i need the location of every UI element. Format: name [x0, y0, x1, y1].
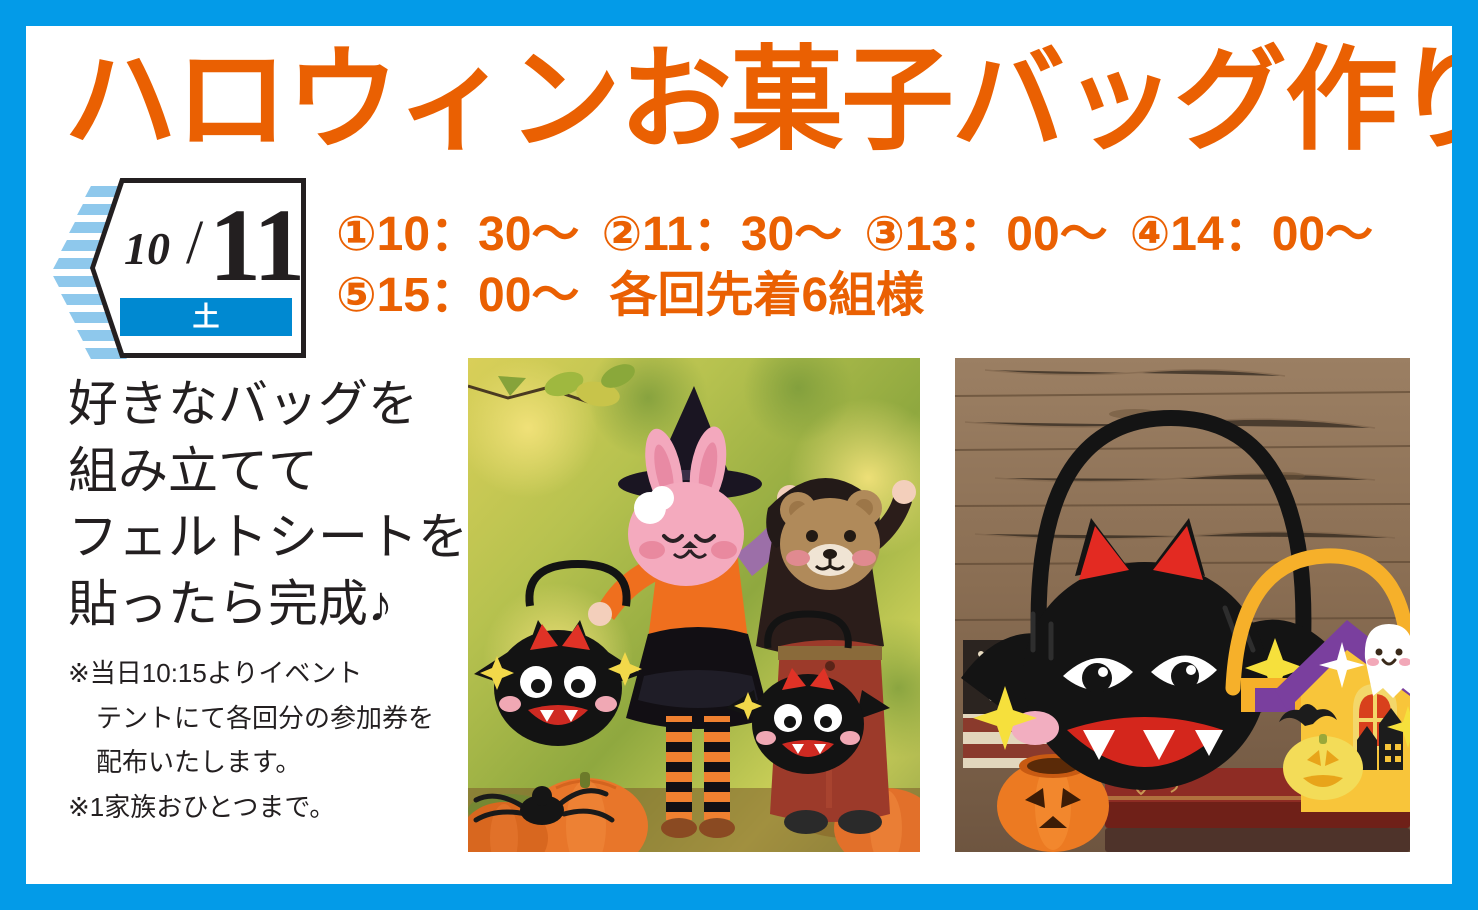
- description-line-3: フェルトシートを: [68, 504, 488, 571]
- description-line-1: 好きなバッグを: [68, 371, 488, 438]
- notes-text: ※当日10:15よりイベント テントにて各回分の参加券を 配布いたします。 ※1…: [68, 651, 488, 830]
- note-line-3: 配布いたします。: [68, 740, 488, 785]
- description-line-4: 貼ったら完成♪: [68, 571, 488, 638]
- description-text: 好きなバッグを 組み立てて フェルトシートを 貼ったら完成♪: [68, 371, 488, 637]
- date-day: 11: [209, 186, 303, 305]
- time-slot-2: ②11：30〜: [601, 208, 842, 261]
- poster: ハロウィンお菓子バッグ作り！ 10 / 11 土: [0, 0, 1478, 910]
- photo-finished-bags: [955, 358, 1410, 852]
- photo-kids-illustration: [468, 358, 920, 852]
- time-slot-3: ③13：00〜: [864, 208, 1107, 261]
- page-title: ハロウィンお菓子バッグ作り！: [64, 44, 1414, 157]
- bear-mask: [780, 490, 882, 590]
- note-line-1: ※当日10:15よりイベント: [68, 651, 488, 696]
- date-separator: /: [186, 208, 203, 279]
- note-line-4: ※1家族おひとつまで。: [68, 785, 488, 830]
- time-slot-4: ④14：00〜: [1130, 208, 1373, 261]
- capacity-label: 各回先着6組様: [609, 269, 924, 322]
- poster-inner-panel: ハロウィンお菓子バッグ作り！ 10 / 11 土: [26, 26, 1452, 884]
- time-slots-row-1: ①10：30〜②11：30〜③13：00〜④14：00〜: [336, 204, 1426, 265]
- time-slots-row-2: ⑤15：00〜各回先着6組様: [336, 265, 1426, 326]
- note-line-2: テントにて各回分の参加券を: [68, 696, 488, 741]
- date-badge: 10 / 11 土: [54, 176, 334, 366]
- date-month: 10: [124, 222, 170, 275]
- time-slot-1: ①10：30〜: [336, 208, 579, 261]
- time-slot-5: ⑤15：00〜: [336, 269, 579, 322]
- time-slots: ①10：30〜②11：30〜③13：00〜④14：00〜 ⑤15：00〜各回先着…: [336, 204, 1426, 327]
- photo-kids-in-costume: [468, 358, 920, 852]
- photo-bags-illustration: [955, 358, 1410, 852]
- date-day-of-week: 土: [120, 298, 292, 336]
- description-line-2: 組み立てて: [68, 438, 488, 505]
